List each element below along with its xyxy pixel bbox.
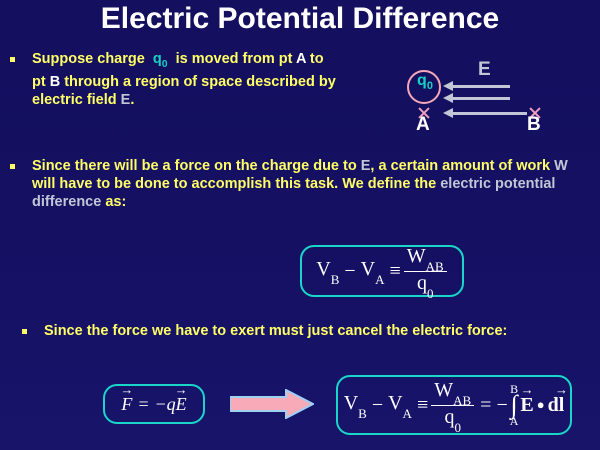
eq3-identity: ≡	[417, 394, 428, 417]
equation-box-definition: VB − VA ≡ WAB q0	[300, 245, 464, 297]
eq3-vb: VB	[344, 392, 367, 418]
field-diagram: q0 A B E	[380, 55, 595, 150]
point-b-label: B	[527, 114, 541, 136]
eq1-fraction: WAB q0	[404, 246, 447, 296]
eq3-neg: −	[496, 394, 507, 417]
eq3-integral-icon: B ∫ A	[510, 383, 519, 428]
point-a-label: A	[416, 114, 430, 136]
equation-force: F = − q E	[121, 394, 186, 415]
eq3-denominator: q0	[441, 406, 464, 431]
eq3-numerator: WAB	[431, 380, 474, 406]
eq3-differential: d	[548, 394, 559, 417]
bullet-1-text: Suppose charge q0 is moved from pt A to …	[32, 50, 340, 109]
slide-canvas: Electric Potential Difference Suppose ch…	[0, 0, 600, 450]
eq2-field-vector: E	[176, 394, 187, 415]
square-bullet-icon	[10, 164, 15, 169]
bullet-item-3: Since the force we have to exert must ju…	[22, 322, 582, 340]
eq1-minus: −	[344, 260, 355, 283]
block-arrow-icon	[230, 389, 314, 419]
square-bullet-icon	[10, 57, 15, 62]
eq2-force-vector: F	[121, 394, 132, 415]
eq3-equals: =	[480, 394, 491, 417]
eq1-numerator: WAB	[404, 246, 447, 272]
bullet-item-2: Since there will be a force on the charg…	[10, 157, 590, 211]
eq3-minus: −	[372, 394, 383, 417]
eq1-vb: VB	[316, 258, 339, 284]
equation-integral: VB − VA ≡ WAB q0 = − B ∫ A E ● dl	[344, 380, 565, 430]
point-a-inline: A	[296, 51, 306, 67]
eq1-denominator: q0	[414, 272, 437, 297]
eq2-minus: −	[155, 394, 167, 415]
work-w-inline: W	[554, 158, 568, 174]
field-arrow-icon	[452, 97, 510, 100]
eq3-field-vector: E	[520, 394, 533, 417]
bullet-2-text: Since there will be a force on the charg…	[32, 157, 590, 211]
equation-box-force: F = − q E	[103, 384, 205, 424]
square-bullet-icon	[22, 329, 27, 334]
field-e-inline: E	[121, 92, 131, 108]
point-b-inline: B	[50, 74, 60, 90]
charge-symbol-inline: q0	[153, 51, 168, 67]
eq2-q: q	[167, 394, 176, 415]
bullet-item-1: Suppose charge q0 is moved from pt A to …	[10, 50, 340, 109]
field-e-inline: E	[361, 158, 371, 174]
equation-definition: VB − VA ≡ WAB q0	[316, 246, 447, 296]
equation-box-integral: VB − VA ≡ WAB q0 = − B ∫ A E ● dl	[336, 375, 572, 435]
field-arrow-icon	[452, 85, 510, 88]
block-arrow-shape	[230, 390, 313, 418]
eq3-va: VA	[388, 392, 412, 418]
bullet-3-text: Since the force we have to exert must ju…	[44, 322, 582, 340]
eq3-integral-symbol: ∫	[511, 395, 518, 416]
eq1-identity: ≡	[390, 260, 401, 283]
field-e-label: E	[478, 59, 491, 81]
page-title: Electric Potential Difference	[0, 2, 600, 36]
field-arrow-icon	[452, 112, 527, 115]
eq3-path-vector: l	[559, 394, 565, 417]
eq3-lower-limit: A	[510, 415, 519, 427]
eq3-dot-product-icon: ●	[537, 397, 545, 413]
eq1-va: VA	[361, 258, 385, 284]
term-electric-potential-difference: electric potential difference	[32, 176, 555, 210]
eq3-fraction: WAB q0	[431, 380, 474, 430]
charge-label: q0	[410, 72, 440, 92]
eq2-equals: =	[137, 394, 149, 415]
